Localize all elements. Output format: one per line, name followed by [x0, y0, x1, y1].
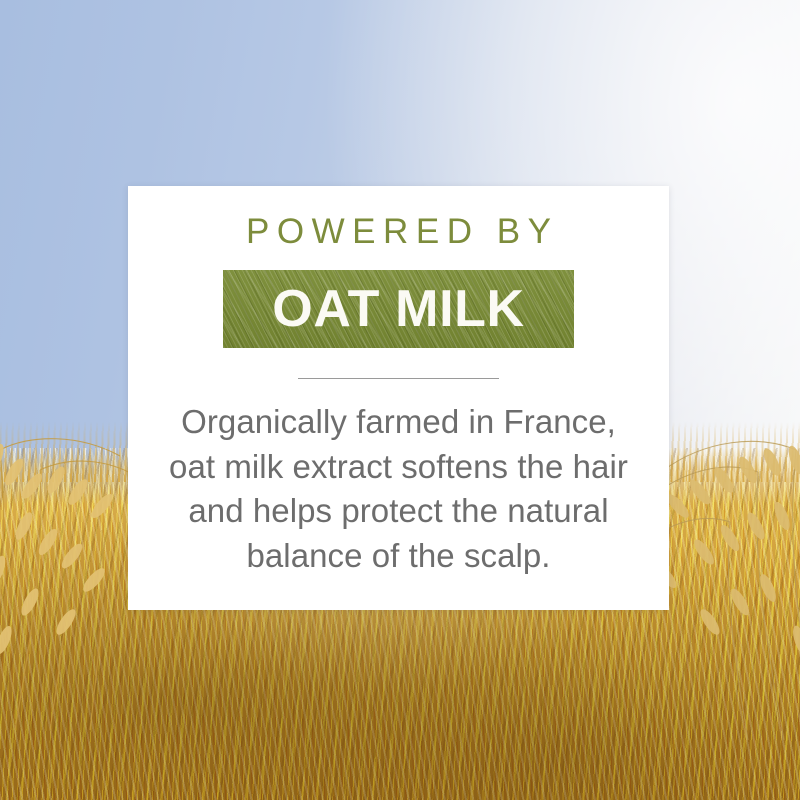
description-line-3: and helps protect the natural	[149, 489, 649, 534]
info-card: POWERED BY OAT MILK Organically farmed i…	[128, 186, 669, 610]
badge-label: OAT MILK	[272, 283, 524, 335]
eyebrow-heading: POWERED BY	[238, 214, 558, 249]
divider-rule	[298, 378, 499, 379]
description-line-4: balance of the scalp.	[149, 534, 649, 579]
description-line-2: oat milk extract softens the hair	[149, 445, 649, 490]
description-text: Organically farmed in France, oat milk e…	[149, 400, 649, 579]
oat-milk-badge: OAT MILK	[223, 270, 574, 348]
promo-stage: POWERED BY OAT MILK Organically farmed i…	[0, 0, 800, 800]
description-line-1: Organically farmed in France,	[149, 400, 649, 445]
